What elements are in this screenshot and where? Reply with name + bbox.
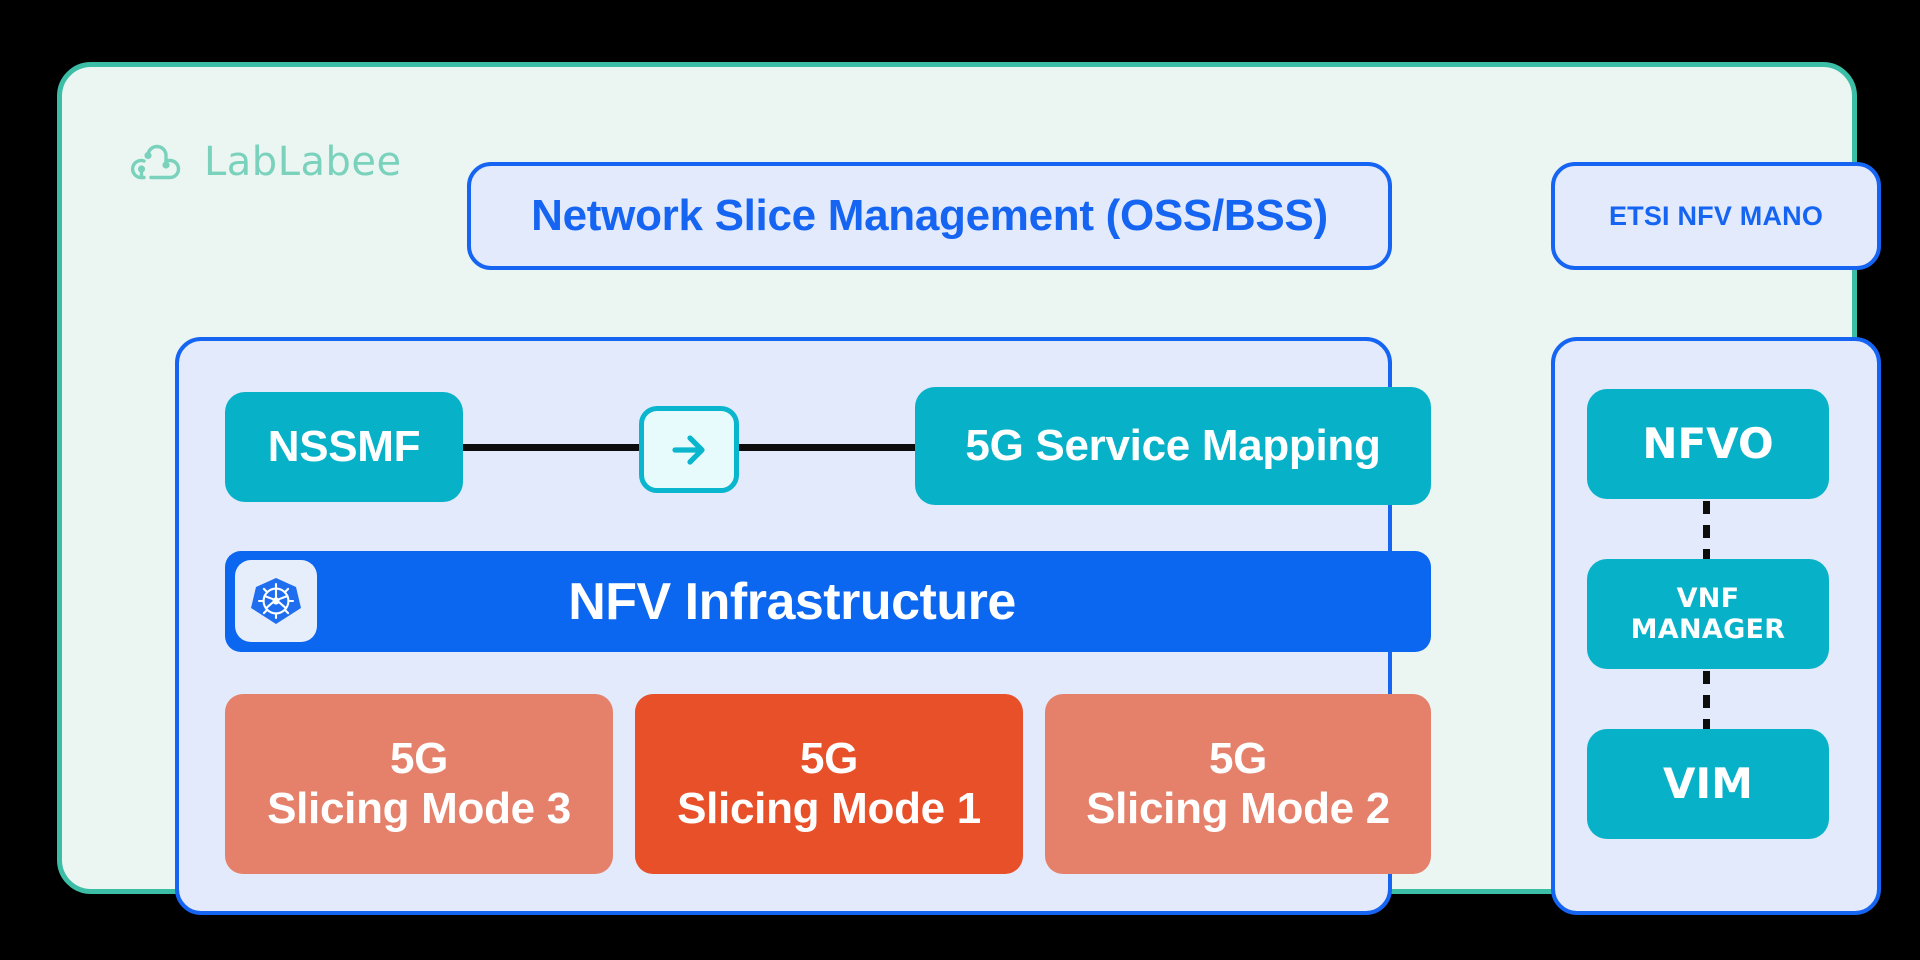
brand-logo-group: LabLabee xyxy=(126,139,402,185)
service-mapping-box[interactable]: 5G Service Mapping xyxy=(915,387,1431,505)
slicing-mode-box[interactable]: 5G Slicing Mode 3 xyxy=(225,694,613,874)
slice-line-2: Slicing Mode 2 xyxy=(1086,784,1390,834)
nfvo-box[interactable]: NFVO xyxy=(1587,389,1829,499)
slice-line-1: 5G xyxy=(390,734,448,784)
nfv-infrastructure-label: NFV Infrastructure xyxy=(225,572,1431,632)
etsi-nfv-mano-box[interactable]: ETSI NFV MANO xyxy=(1551,162,1881,270)
network-slice-management-box[interactable]: Network Slice Management (OSS/BSS) xyxy=(467,162,1392,270)
nfvo-to-vnfm-connector xyxy=(1703,501,1710,561)
slice-line-2: Slicing Mode 3 xyxy=(267,784,571,834)
vnfm-to-vim-connector xyxy=(1703,671,1710,731)
slice-line-2: Slicing Mode 1 xyxy=(677,784,981,834)
slicing-mode-box[interactable]: 5G Slicing Mode 1 xyxy=(635,694,1023,874)
cloud-network-logo-icon xyxy=(126,139,188,185)
slice-line-1: 5G xyxy=(1209,734,1267,784)
diagram-canvas: LabLabee Network Slice Management (OSS/B… xyxy=(0,0,1920,960)
slicing-mode-box[interactable]: 5G Slicing Mode 2 xyxy=(1045,694,1431,874)
nssmf-box[interactable]: NSSMF xyxy=(225,392,463,502)
nfvo-label: NFVO xyxy=(1642,420,1773,468)
kubernetes-icon xyxy=(235,560,317,642)
vnf-manager-label-line-2: MANAGER xyxy=(1631,614,1786,645)
vim-box[interactable]: VIM xyxy=(1587,729,1829,839)
slice-line-1: 5G xyxy=(800,734,858,784)
brand-name: LabLabee xyxy=(204,139,402,185)
nfv-infrastructure-bar[interactable]: NFV Infrastructure xyxy=(225,551,1431,652)
vnf-manager-box[interactable]: VNF MANAGER xyxy=(1587,559,1829,669)
arrow-right-icon[interactable] xyxy=(639,406,739,493)
architecture-card: LabLabee Network Slice Management (OSS/B… xyxy=(57,62,1857,894)
vim-label: VIM xyxy=(1663,760,1753,808)
vnf-manager-label-line-1: VNF xyxy=(1631,583,1786,614)
